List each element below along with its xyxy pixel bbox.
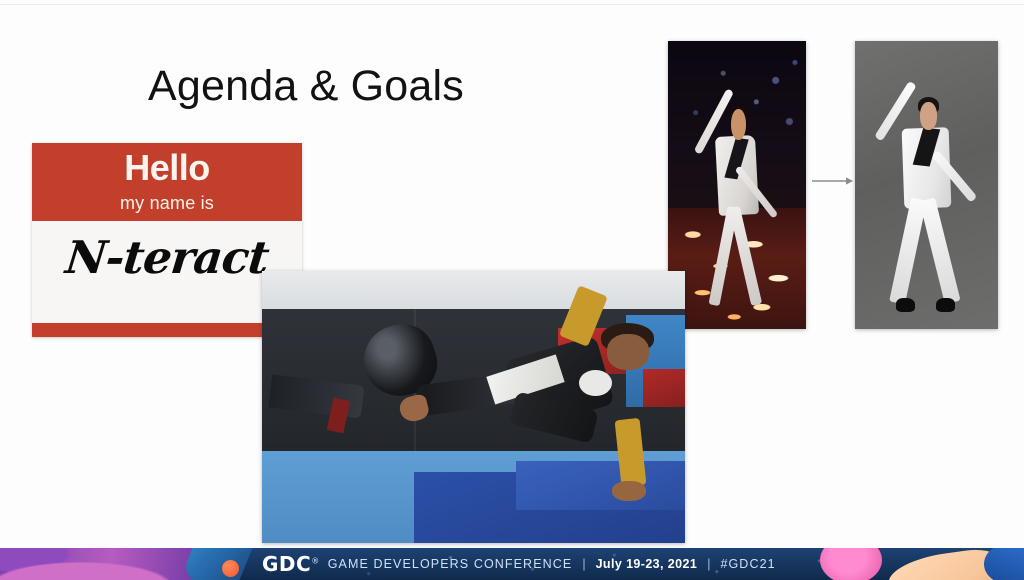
kicking-foot — [397, 393, 430, 424]
action-figure-body — [878, 76, 975, 312]
footer-orange-circle-icon — [222, 560, 239, 577]
gdc-logo-text: GDC — [262, 552, 311, 576]
martial-artist-figure — [389, 298, 668, 521]
figure-head — [920, 102, 938, 130]
gdc-logo: GDC® — [262, 552, 320, 576]
footer-pink-planet — [820, 548, 882, 580]
figure-left-shoe — [896, 298, 914, 312]
athlete-lowered-arm — [614, 417, 646, 486]
footer-separator-2: | — [705, 557, 712, 571]
martial-arts-kick-photo — [262, 271, 685, 543]
footer-left-decoration — [0, 548, 212, 580]
slide-canvas: Agenda & Goals Hello my name is N-teract — [0, 4, 1024, 549]
disco-dancer-figure — [701, 99, 773, 306]
dancer-right-leg — [729, 206, 762, 305]
figure-right-leg — [920, 198, 961, 305]
page-title: Agenda & Goals — [148, 62, 464, 111]
footer-blue-shape — [984, 548, 1024, 580]
figure-right-shoe — [936, 298, 954, 312]
footer-right-decoration — [814, 548, 1024, 580]
gdc-footer-bar: GDC® GAME DEVELOPERS CONFERENCE | July 1… — [0, 548, 1024, 580]
athlete-head — [607, 334, 649, 370]
registered-mark-icon: ® — [311, 556, 320, 565]
presentation-slide: Agenda & Goals Hello my name is N-teract — [0, 0, 1024, 580]
conference-dates-label: July 19-23, 2021 — [596, 557, 698, 571]
footer-separator-1: | — [580, 557, 587, 571]
conference-hashtag-label: #GDC21 — [720, 557, 775, 571]
name-tag-subtitle: my name is — [32, 193, 302, 214]
arrow-right-icon — [812, 175, 854, 187]
name-tag-hello-label: Hello — [32, 147, 302, 189]
footer-text-group: GDC® GAME DEVELOPERS CONFERENCE | July 1… — [262, 548, 776, 580]
figure-left-leg — [889, 198, 926, 305]
action-figure-photo — [855, 41, 998, 329]
disco-dancer-photo — [668, 41, 806, 329]
conference-name-label: GAME DEVELOPERS CONFERENCE — [328, 557, 573, 571]
athlete-hand — [612, 481, 646, 501]
